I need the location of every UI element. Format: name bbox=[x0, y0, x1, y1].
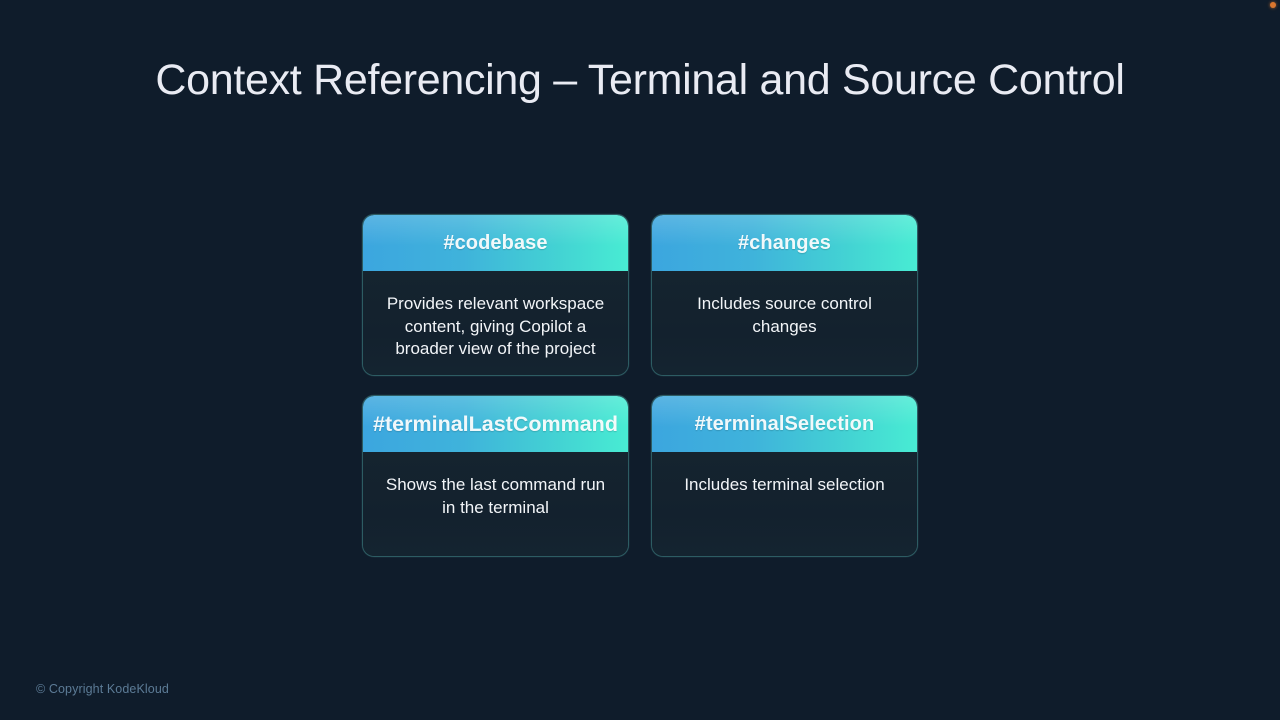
card-tag-label: #codebase bbox=[443, 232, 547, 255]
card-header-changes: #changes bbox=[652, 215, 917, 271]
card-description: Includes terminal selection bbox=[670, 474, 899, 497]
slide-canvas: Context Referencing – Terminal and Sourc… bbox=[0, 0, 1280, 720]
card-description: Includes source control changes bbox=[670, 293, 899, 338]
card-description: Shows the last command run in the termin… bbox=[381, 474, 610, 519]
card-header-terminal-last-command: #terminalLastCommand bbox=[363, 396, 628, 452]
card-body-terminal-last-command: Shows the last command run in the termin… bbox=[363, 452, 628, 556]
page-title: Context Referencing – Terminal and Sourc… bbox=[0, 56, 1280, 105]
card-codebase[interactable]: #codebase Provides relevant workspace co… bbox=[362, 214, 629, 376]
card-terminal-selection[interactable]: #terminalSelection Includes terminal sel… bbox=[651, 395, 918, 557]
card-body-changes: Includes source control changes bbox=[652, 271, 917, 375]
card-tag-label: #changes bbox=[738, 232, 831, 255]
card-grid: #codebase Provides relevant workspace co… bbox=[362, 214, 918, 557]
card-description: Provides relevant workspace content, giv… bbox=[381, 293, 610, 361]
card-tag-label: #terminalSelection bbox=[695, 413, 875, 436]
card-changes[interactable]: #changes Includes source control changes bbox=[651, 214, 918, 376]
card-header-terminal-selection: #terminalSelection bbox=[652, 396, 917, 452]
status-indicator-dot bbox=[1270, 2, 1276, 8]
card-body-codebase: Provides relevant workspace content, giv… bbox=[363, 271, 628, 375]
card-body-terminal-selection: Includes terminal selection bbox=[652, 452, 917, 556]
card-terminal-last-command[interactable]: #terminalLastCommand Shows the last comm… bbox=[362, 395, 629, 557]
footer-copyright: © Copyright KodeKloud bbox=[36, 682, 169, 696]
card-tag-label: #terminalLastCommand bbox=[373, 412, 618, 437]
card-header-codebase: #codebase bbox=[363, 215, 628, 271]
context-reference-cards: #codebase Provides relevant workspace co… bbox=[362, 214, 918, 557]
